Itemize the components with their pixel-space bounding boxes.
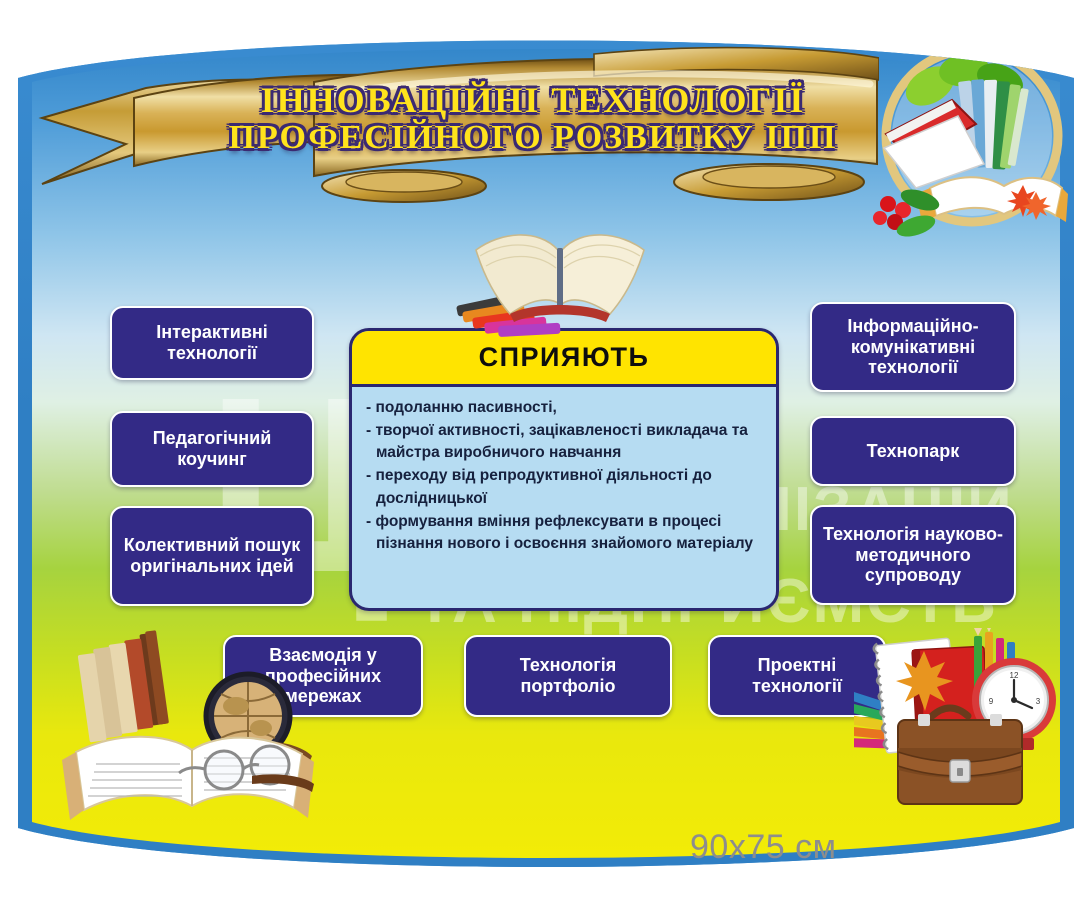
size-caption: 90х75 см: [690, 828, 836, 867]
card-pedagogical-coaching[interactable]: Педагогічний коучинг: [110, 411, 314, 487]
svg-text:9: 9: [989, 697, 994, 706]
bullet-item: - переходу від репродуктивної діяльності…: [366, 465, 766, 509]
card-label: Технологія науково-методичного супроводу: [820, 524, 1006, 587]
svg-text:12: 12: [1010, 671, 1019, 680]
card-label: Інтерактивні технології: [120, 322, 304, 364]
center-panel-title: СПРИЯЮТЬ: [479, 342, 650, 373]
card-technopark[interactable]: Технопарк: [810, 416, 1016, 486]
svg-text:3: 3: [1036, 697, 1041, 706]
card-label: Колективний пошук оригінальних ідей: [120, 535, 304, 577]
information-stand: Ц СТЕНДИ ДЛЯ ОРГАНІЗАЦІЙ ТА ПІДПРИЄМСТВ: [18, 22, 1074, 882]
books-globe-glasses-icon: [56, 624, 316, 834]
card-portfolio-technology[interactable]: Технологія портфоліо: [464, 635, 672, 717]
card-interactive-technologies[interactable]: Інтерактивні технології: [110, 306, 314, 380]
bullet-item: - творчої активності, зацікавленості вик…: [366, 420, 766, 464]
ribbon-banner-icon: [34, 36, 879, 204]
bullet-item: - формування вміння рефлексувати в проце…: [366, 511, 766, 555]
card-scientific-method-support[interactable]: Технологія науково-методичного супроводу: [810, 505, 1016, 605]
card-collective-search[interactable]: Колективний пошук оригінальних ідей: [110, 506, 314, 606]
bullet-item: - подоланню пасивності,: [366, 397, 766, 419]
center-panel-header: СПРИЯЮТЬ: [352, 331, 776, 387]
card-label: Проектні технології: [718, 655, 876, 697]
card-label: Педагогічний коучинг: [120, 428, 304, 470]
card-label: Технопарк: [867, 441, 960, 462]
briefcase-clock-stationery-icon: 123 69: [854, 628, 1064, 818]
ribbon-banner: [34, 36, 879, 204]
books-emblem-icon: [872, 38, 1068, 250]
card-label: Технологія портфоліо: [474, 655, 662, 697]
center-panel: СПРИЯЮТЬ - подоланню пасивності, - творч…: [349, 328, 779, 611]
center-panel-body: - подоланню пасивності, - творчої активн…: [352, 387, 776, 562]
card-information-communication-technologies[interactable]: Інформаційно-комунікативні технології: [810, 302, 1016, 392]
open-book-pencils-icon: [450, 218, 674, 338]
card-label: Інформаційно-комунікативні технології: [820, 316, 1006, 379]
